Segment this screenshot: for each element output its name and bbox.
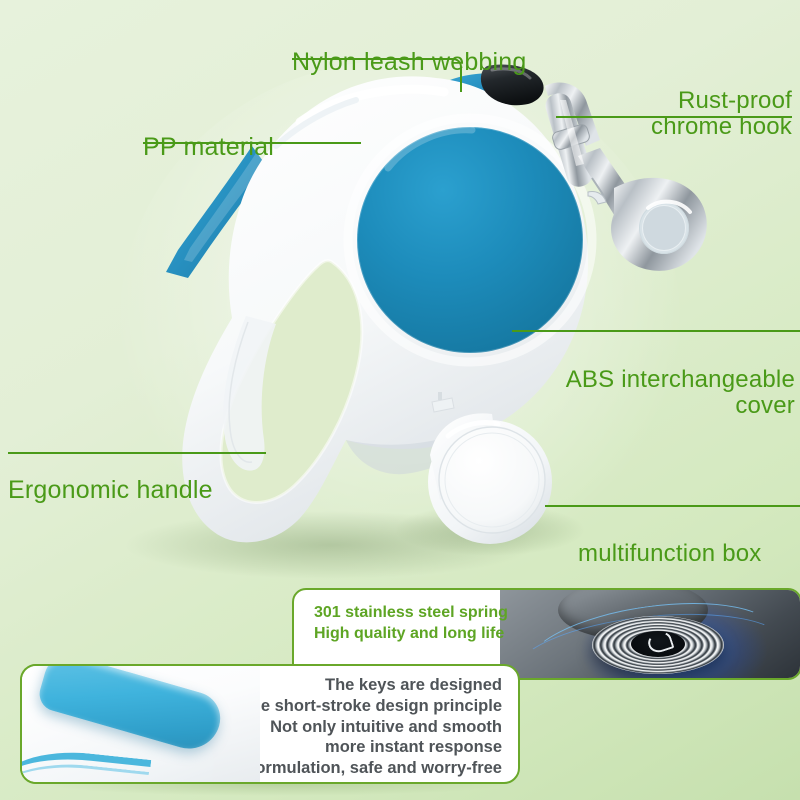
leader-line-abs-cover (512, 330, 800, 332)
leader-line-multifunction-box (545, 505, 800, 507)
leader-line-nylon (292, 58, 462, 92)
infographic-page: Nylon leash webbing Rust-proof chrome ho… (0, 0, 800, 800)
leader-line-ergonomic-handle (8, 452, 266, 454)
panel-drop-shadow (40, 784, 510, 796)
callout-abs-cover: ABS interchangeable cover (555, 341, 795, 445)
callout-ergonomic-handle: Ergonomic handle (8, 450, 213, 531)
leader-line-rust-hook (556, 116, 792, 118)
leader-line-pp-material (143, 142, 361, 144)
coiled-spring-mechanism-photo (500, 590, 800, 678)
detail-panel-brake-button (20, 664, 260, 784)
callout-multifunction-box-label: multifunction box (578, 541, 762, 567)
callout-ergonomic-handle-label: Ergonomic handle (8, 477, 213, 504)
spring-panel-text: 301 stainless steel spring High quality … (314, 602, 508, 644)
callout-pp-material: PP material (143, 107, 274, 188)
callout-rust-proof-chrome-hook: Rust-proof chrome hook (600, 62, 792, 166)
callout-pp-material-label: PP material (143, 134, 274, 161)
callout-rust-proof-chrome-hook-label: Rust-proof chrome hook (600, 88, 792, 140)
callout-abs-cover-label: ABS interchangeable cover (555, 367, 795, 419)
callout-multifunction-box: multifunction box (578, 515, 762, 593)
blue-brake-button-photo (22, 666, 260, 782)
